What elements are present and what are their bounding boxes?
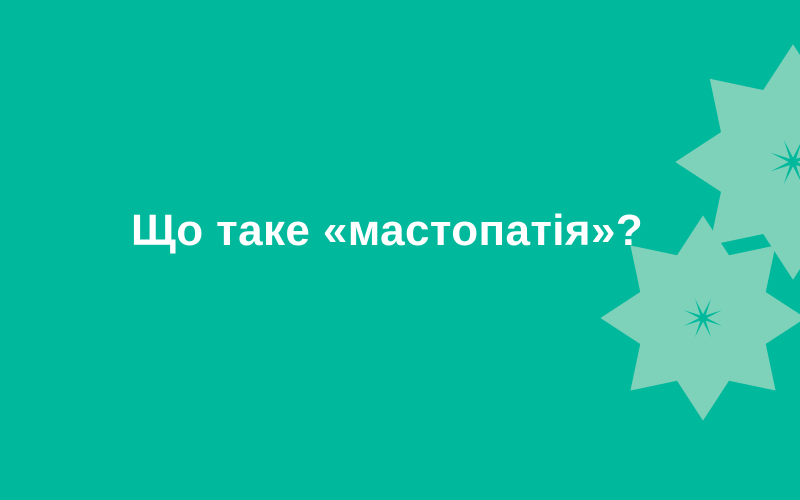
- page-title: Що таке «мастопатія»?: [131, 203, 751, 259]
- promo-banner: Що таке «мастопатія»?: [0, 0, 800, 500]
